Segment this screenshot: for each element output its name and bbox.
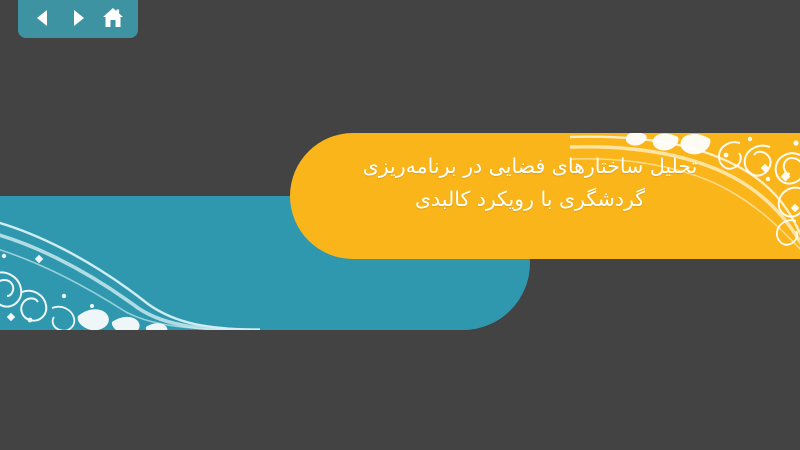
slide-title-line-2: گردشگری با رویکرد کالبدی [300, 183, 760, 216]
forward-button[interactable] [64, 5, 92, 31]
forward-icon [67, 7, 89, 29]
arabesque-ornament-teal [0, 196, 260, 330]
navigation-bar [18, 0, 138, 38]
slide-title: تحلیل ساختارهای فضایی در برنامه‌ریزی گرد… [300, 150, 760, 216]
presentation-slide: تحلیل ساختارهای فضایی در برنامه‌ریزی گرد… [0, 0, 800, 450]
back-button[interactable] [29, 5, 57, 31]
back-icon [32, 7, 54, 29]
home-icon [101, 6, 125, 30]
home-button[interactable] [99, 5, 127, 31]
slide-title-line-1: تحلیل ساختارهای فضایی در برنامه‌ریزی [300, 150, 760, 183]
